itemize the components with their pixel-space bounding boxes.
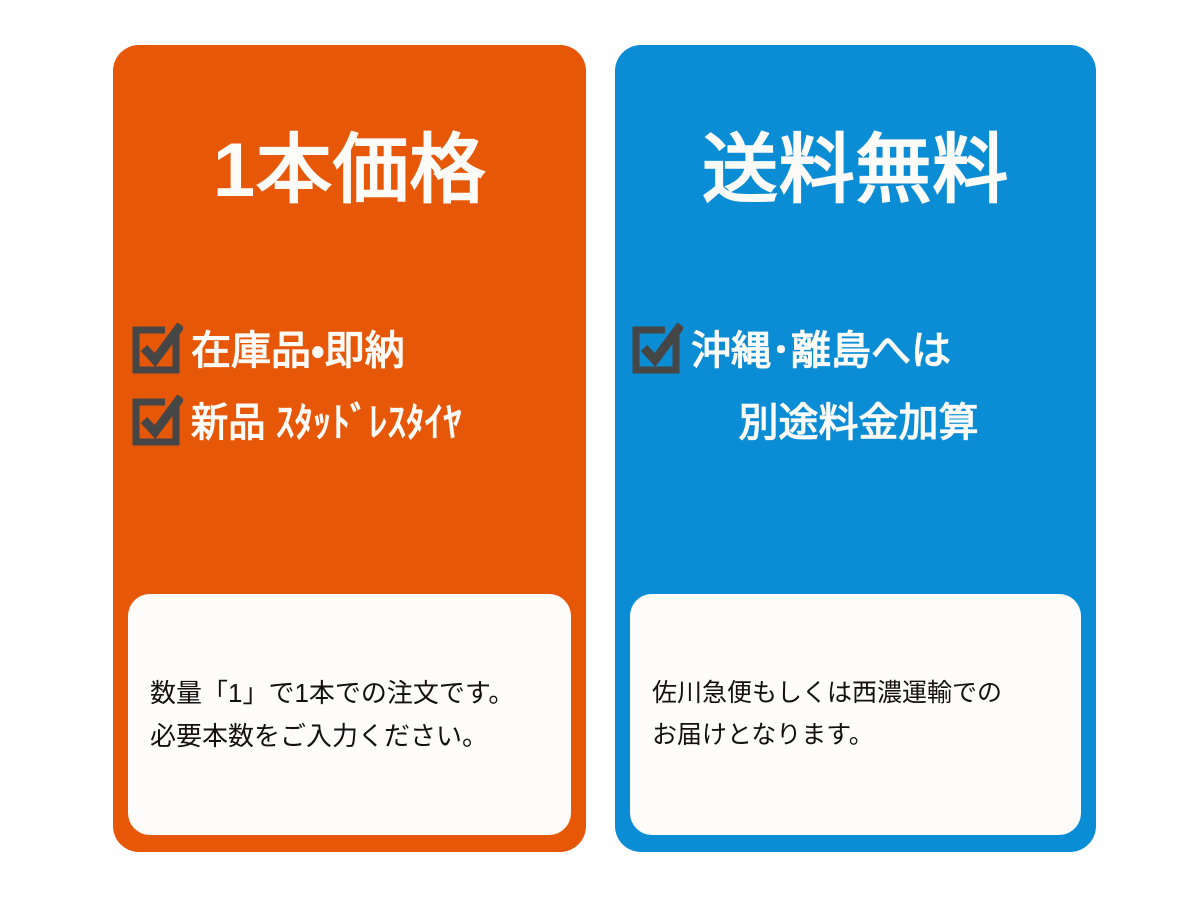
checkbox-checked-icon — [631, 323, 683, 375]
shipping-panel-bullet-item: 沖縄･離島へは — [631, 322, 1096, 380]
price-panel-bullet-item: 在庫品・即納 — [131, 322, 586, 380]
price-panel-heading: 1本価格 — [213, 133, 486, 209]
price-panel-bullet-list: 在庫品・即納 新品 ｽﾀｯﾄﾞﾚｽﾀｲﾔ — [113, 322, 586, 452]
shipping-panel-note-box: 佐川急便もしくは西濃運輸での お届けとなります。 — [630, 594, 1081, 835]
shipping-panel-note-line: お届けとなります。 — [652, 715, 1059, 756]
shipping-panel-bullet-label: 別途料金加算 — [739, 401, 979, 445]
shipping-panel: 送料無料 沖縄･離島へは 別途料金加算 佐川急便もしくは西濃運輸での お届けとな… — [615, 45, 1096, 852]
price-panel-bullet-label: 在庫品・即納 — [191, 329, 405, 373]
shipping-panel-bullet-list: 沖縄･離島へは 別途料金加算 — [615, 322, 1096, 452]
shipping-panel-bullet-label: 沖縄･離島へは — [691, 329, 951, 373]
price-panel-note-line: 数量「1」で1本での注文です。 — [150, 672, 549, 715]
shipping-panel-bullet-item: 別途料金加算 — [631, 394, 1096, 452]
checkbox-checked-icon — [131, 395, 183, 447]
price-panel: 1本価格 在庫品・即納 新品 ｽﾀｯﾄﾞﾚｽﾀ — [113, 45, 586, 852]
price-panel-bullet-item: 新品 ｽﾀｯﾄﾞﾚｽﾀｲﾔ — [131, 394, 586, 452]
checkbox-checked-icon — [131, 323, 183, 375]
shipping-panel-note-line: 佐川急便もしくは西濃運輸での — [652, 673, 1059, 714]
price-panel-bullet-label: 新品 ｽﾀｯﾄﾞﾚｽﾀｲﾔ — [191, 401, 462, 445]
price-panel-note-box: 数量「1」で1本での注文です。 必要本数をご入力ください。 — [128, 594, 571, 835]
shipping-panel-heading: 送料無料 — [702, 133, 1009, 209]
promo-banner: 1本価格 在庫品・即納 新品 ｽﾀｯﾄﾞﾚｽﾀ — [0, 0, 1200, 900]
price-panel-note-line: 必要本数をご入力ください。 — [150, 715, 549, 758]
